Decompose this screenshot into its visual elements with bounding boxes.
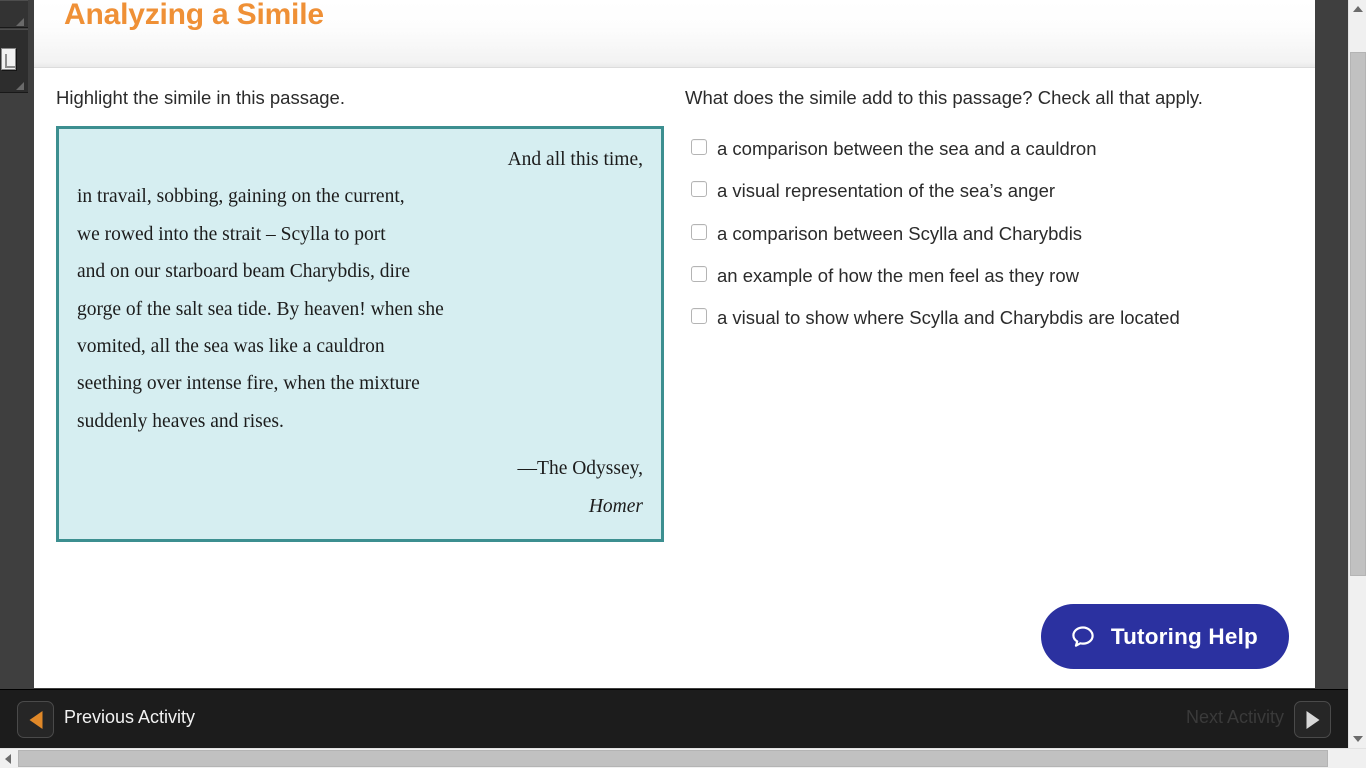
lesson-content-frame: Analyzing a Simile Highlight the simile … (34, 0, 1315, 688)
app-window: Analyzing a Simile Highlight the simile … (0, 0, 1366, 768)
triangle-up-icon[interactable] (1353, 6, 1363, 12)
checkbox-icon[interactable] (691, 308, 707, 324)
left-toolbar-rail (0, 0, 34, 688)
horizontal-scrollbar-thumb[interactable] (18, 750, 1328, 767)
passage-attribution-author: Homer (77, 488, 643, 525)
passage-attribution-title: —The Odyssey, (77, 450, 643, 487)
lesson-header: Analyzing a Simile (34, 0, 1315, 68)
chat-bubble-icon (1068, 622, 1098, 652)
horizontal-scrollbar[interactable] (0, 748, 1366, 768)
checkbox-icon[interactable] (691, 139, 707, 155)
triangle-right-icon (1306, 711, 1319, 729)
passage-line[interactable]: in travail, sobbing, gaining on the curr… (77, 178, 643, 215)
vertical-scrollbar-thumb[interactable] (1350, 52, 1366, 576)
next-activity-label: Next Activity (1186, 707, 1284, 728)
question-column: What does the simile add to this passage… (685, 84, 1275, 347)
passage-line[interactable]: And all this time, (77, 141, 643, 178)
list-item[interactable]: a visual representation of the sea’s ang… (685, 177, 1275, 204)
previous-activity-button[interactable] (17, 701, 54, 738)
question-prompt: What does the simile add to this passage… (685, 84, 1275, 112)
checkbox-icon[interactable] (691, 181, 707, 197)
passage-line[interactable]: we rowed into the strait – Scylla to por… (77, 216, 643, 253)
list-item[interactable]: a comparison between the sea and a cauld… (685, 135, 1275, 162)
scrollbar-corner (1348, 749, 1366, 768)
checkbox-icon[interactable] (691, 266, 707, 282)
passage-line[interactable]: gorge of the salt sea tide. By heaven! w… (77, 291, 643, 328)
option-label[interactable]: a comparison between the sea and a cauld… (717, 135, 1097, 162)
option-label[interactable]: a visual representation of the sea’s ang… (717, 177, 1055, 204)
passage-highlight-area[interactable]: And all this time, in travail, sobbing, … (56, 126, 664, 542)
spacer (77, 440, 643, 450)
option-label[interactable]: a comparison between Scylla and Charybdi… (717, 220, 1082, 247)
previous-activity-label[interactable]: Previous Activity (64, 707, 195, 728)
triangle-left-icon[interactable] (5, 754, 11, 764)
tutoring-help-button[interactable]: Tutoring Help (1041, 604, 1289, 669)
list-item[interactable]: a comparison between Scylla and Charybdi… (685, 220, 1275, 247)
passage-line[interactable]: seething over intense fire, when the mix… (77, 365, 643, 402)
checkbox-icon[interactable] (691, 224, 707, 240)
tutoring-help-label: Tutoring Help (1111, 624, 1258, 650)
page-title: Analyzing a Simile (64, 0, 324, 32)
passage-line[interactable]: vomited, all the sea was like a cauldron (77, 328, 643, 365)
highlight-instruction: Highlight the simile in this passage. (56, 84, 696, 112)
activity-navigation-bar: Previous Activity Next Activity (0, 689, 1348, 748)
next-activity-button[interactable] (1294, 701, 1331, 738)
passage-line[interactable]: and on our starboard beam Charybdis, dir… (77, 253, 643, 290)
option-label[interactable]: an example of how the men feel as they r… (717, 262, 1079, 289)
passage-line[interactable]: suddenly heaves and rises. (77, 403, 643, 440)
triangle-collapse-icon[interactable] (16, 82, 24, 90)
triangle-left-icon (29, 711, 42, 729)
list-item[interactable]: a visual to show where Scylla and Charyb… (685, 304, 1275, 331)
list-item[interactable]: an example of how the men feel as they r… (685, 262, 1275, 289)
document-icon[interactable] (1, 48, 16, 70)
vertical-scrollbar[interactable] (1348, 0, 1366, 748)
option-label[interactable]: a visual to show where Scylla and Charyb… (717, 304, 1180, 331)
passage-column: Highlight the simile in this passage. An… (56, 84, 696, 542)
triangle-collapse-icon[interactable] (16, 18, 24, 26)
lesson-body: Highlight the simile in this passage. An… (34, 68, 1315, 688)
triangle-down-icon[interactable] (1353, 736, 1363, 742)
